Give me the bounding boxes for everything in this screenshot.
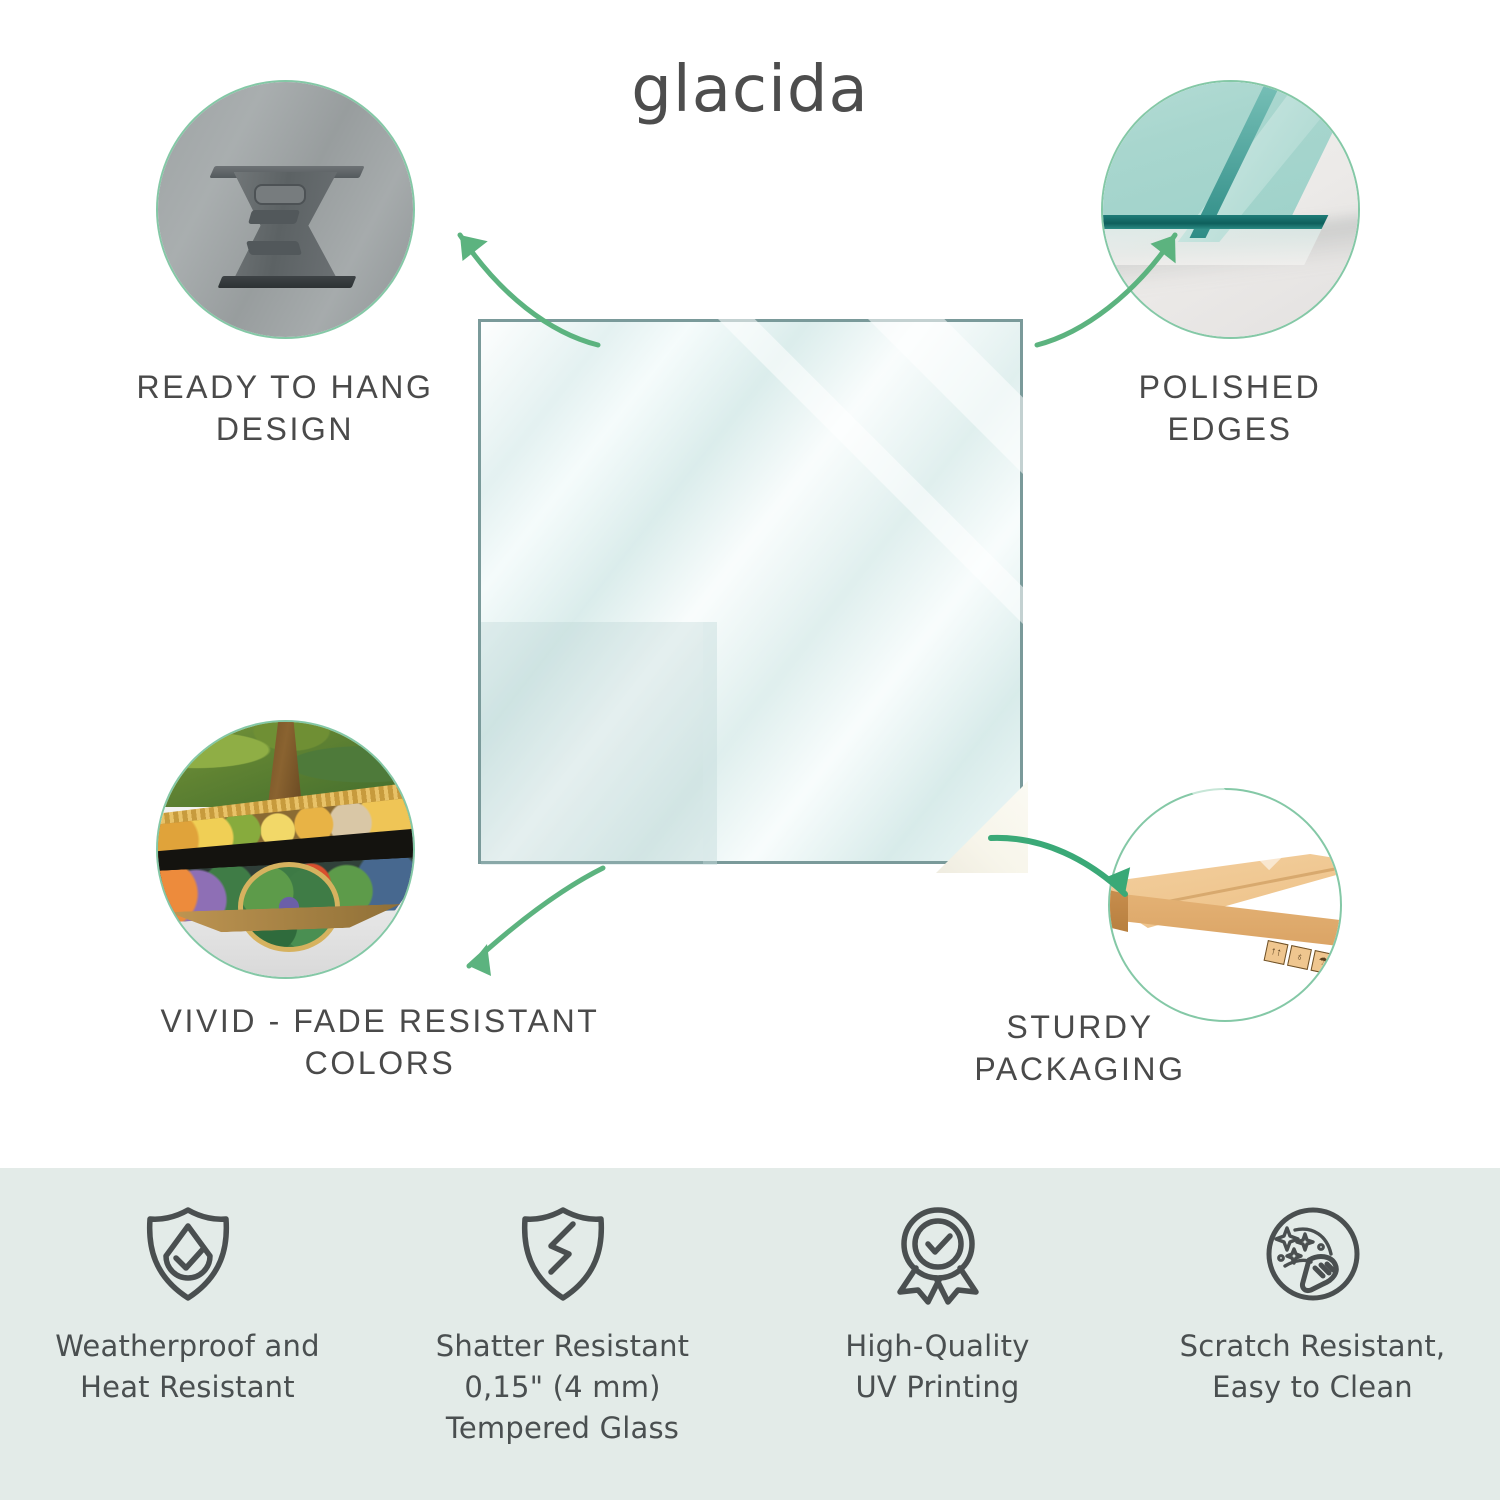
- arrow-to-ready-to-hang: [430, 195, 610, 355]
- shield-water-drop-check-icon: [134, 1200, 242, 1308]
- keep-dry-mark: ☂: [1311, 950, 1336, 975]
- thumbnail-vivid-colors: [158, 722, 413, 977]
- stained-glass-artwork: [158, 722, 413, 932]
- arrow-to-sturdy-packaging: [985, 818, 1145, 928]
- benefit-weatherproof: Weatherproof and Heat Resistant: [0, 1168, 375, 1500]
- thumbnail-ready-to-hang: [158, 82, 413, 337]
- hand-wipe-sparkle-icon: [1259, 1200, 1367, 1308]
- caption-sturdy-packaging: STURDY PACKAGING: [900, 1006, 1260, 1090]
- benefit-uv-printing: High-Quality UV Printing: [750, 1168, 1125, 1500]
- packaging-handling-marks: ↑↑ ♁ ☂: [1264, 940, 1336, 975]
- benefit-label-weatherproof: Weatherproof and Heat Resistant: [55, 1326, 319, 1408]
- benefit-label-shatter-resistant: Shatter Resistant 0,15" (4 mm) Tempered …: [436, 1326, 690, 1450]
- caption-vivid-colors: VIVID - FADE RESISTANT COLORS: [60, 1000, 700, 1084]
- arrow-to-vivid-colors: [435, 860, 615, 990]
- caption-ready-to-hang: READY TO HANG DESIGN: [75, 366, 495, 450]
- benefit-label-uv-printing: High-Quality UV Printing: [845, 1326, 1029, 1408]
- fragile-mark: ♁: [1287, 945, 1312, 970]
- award-badge-check-icon: [884, 1200, 992, 1308]
- benefit-label-scratch-resistant: Scratch Resistant, Easy to Clean: [1180, 1326, 1446, 1408]
- arrow-to-polished-edges: [1025, 195, 1205, 355]
- infographic-canvas: glacida: [0, 0, 1500, 1500]
- shield-crack-icon: [509, 1200, 617, 1308]
- caption-polished-edges: POLISHED EDGES: [1050, 366, 1410, 450]
- benefits-bar: Weatherproof and Heat Resistant Shatter …: [0, 1168, 1500, 1500]
- this-side-up-mark: ↑↑: [1264, 940, 1289, 965]
- benefit-scratch-resistant: Scratch Resistant, Easy to Clean: [1125, 1168, 1500, 1500]
- product-glass-panel: [478, 319, 1023, 864]
- hanging-bracket-icon: [216, 140, 356, 290]
- benefit-shatter-resistant: Shatter Resistant 0,15" (4 mm) Tempered …: [375, 1168, 750, 1500]
